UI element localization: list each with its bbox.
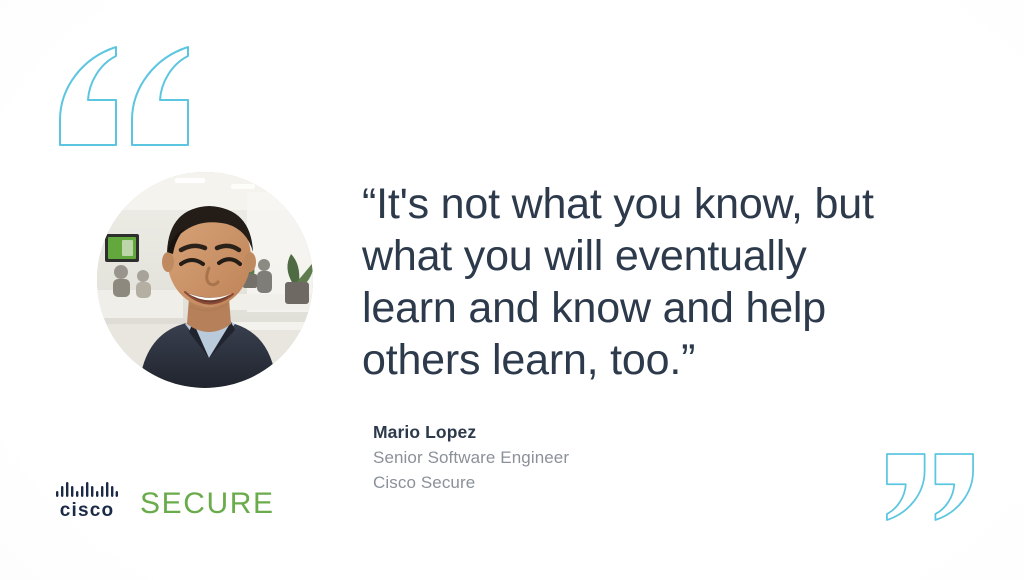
cisco-secure-logo: cisco SECURE — [56, 482, 275, 520]
avatar — [97, 172, 313, 388]
close-quotation-mark-icon — [884, 452, 976, 522]
attribution-name: Mario Lopez — [373, 420, 793, 445]
quote-slide: “It's not what you know, but what you wi… — [0, 0, 1024, 580]
attribution-title: Senior Software Engineer — [373, 445, 793, 470]
cisco-wordmark: cisco — [60, 501, 115, 520]
cisco-logo: cisco — [56, 482, 118, 520]
attribution-organization: Cisco Secure — [373, 470, 793, 495]
open-quotation-mark-icon — [56, 44, 192, 148]
quote-block: “It's not what you know, but what you wi… — [362, 178, 902, 386]
cisco-bridge-bars-icon — [56, 482, 118, 497]
attribution-block: Mario Lopez Senior Software Engineer Cis… — [373, 420, 793, 495]
secure-wordmark: SECURE — [140, 489, 275, 519]
quote-text: “It's not what you know, but what you wi… — [362, 178, 902, 386]
